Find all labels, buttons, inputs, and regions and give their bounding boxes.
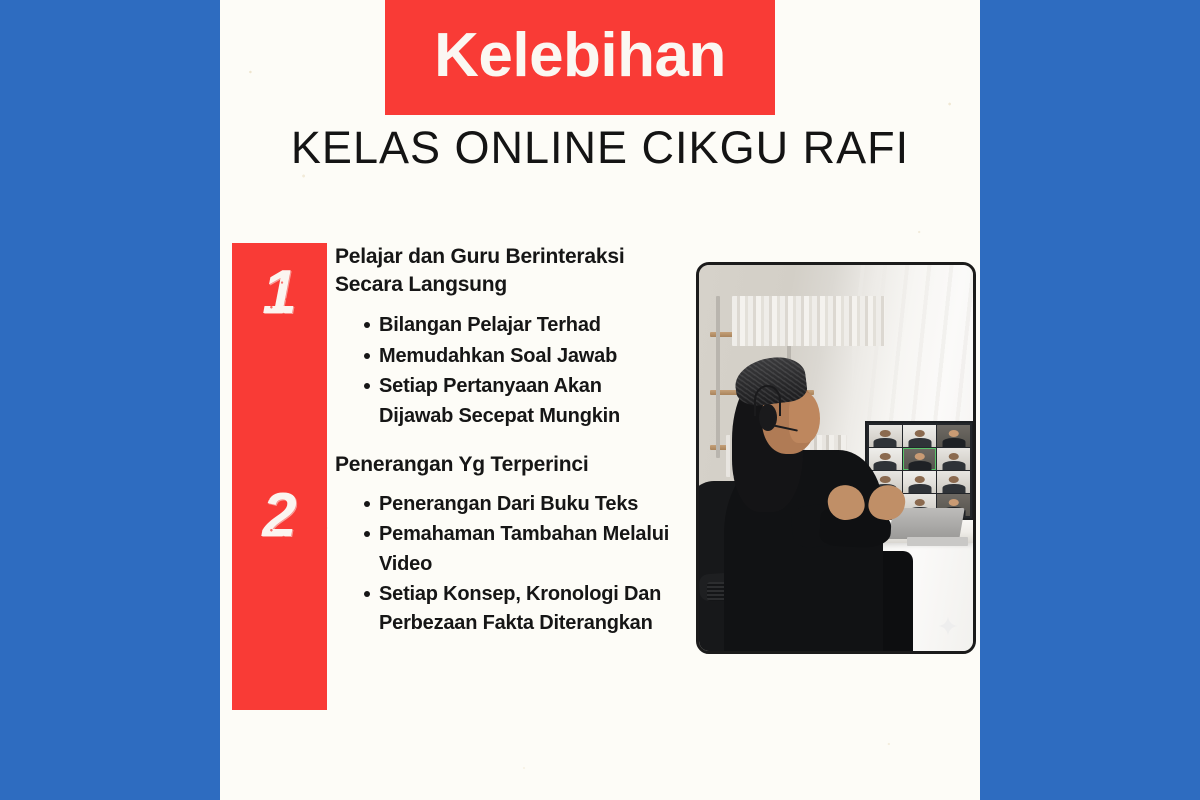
page-subtitle: KELAS ONLINE CIKGU RAFI [220, 122, 980, 174]
number-bar: 1 2 [232, 243, 327, 710]
poster-canvas: Kelebihan KELAS ONLINE CIKGU RAFI 1 2 Pe… [220, 0, 980, 800]
section-2-bullets: Penerangan Dari Buku Teks Pemahaman Tamb… [335, 490, 675, 639]
participant-tile [869, 425, 902, 446]
section-1: Pelajar dan Guru Berinteraksi Secara Lan… [335, 243, 675, 431]
section-number-2: 2 [232, 485, 327, 547]
list-item: Pemahaman Tambahan Melalui Video [366, 520, 675, 579]
participant-tile [937, 448, 970, 469]
participant-tile [869, 448, 902, 469]
photo-books-top [732, 296, 885, 346]
participant-tile [903, 471, 936, 492]
poster-root: Kelebihan KELAS ONLINE CIKGU RAFI 1 2 Pe… [0, 0, 1200, 800]
list-item: Penerangan Dari Buku Teks [366, 490, 675, 519]
participant-tile [937, 471, 970, 492]
list-item: Bilangan Pelajar Terhad [366, 311, 675, 340]
online-class-photo [699, 265, 973, 651]
section-number-1: 1 [232, 262, 327, 324]
section-1-bullets: Bilangan Pelajar Terhad Memudahkan Soal … [335, 311, 675, 431]
list-item: Setiap Pertanyaan Akan Dijawab Secepat M… [366, 372, 675, 431]
participant-tile [903, 425, 936, 446]
title-banner: Kelebihan [385, 0, 775, 115]
section-2-heading: Penerangan Yg Terperinci [335, 451, 675, 479]
list-item: Memudahkan Soal Jawab [366, 342, 675, 371]
photo-laptop-base [907, 537, 967, 545]
list-item: Setiap Konsep, Kronologi Dan Perbezaan F… [366, 580, 675, 639]
page-title: Kelebihan [434, 25, 726, 91]
participant-tile [903, 448, 936, 469]
photo-card [696, 262, 976, 654]
section-1-heading: Pelajar dan Guru Berinteraksi Secara Lan… [335, 243, 675, 298]
sparkle-icon [937, 615, 959, 637]
sections-list: Pelajar dan Guru Berinteraksi Secara Lan… [335, 243, 675, 657]
participant-tile [937, 425, 970, 446]
section-2: Penerangan Yg Terperinci Penerangan Dari… [335, 451, 675, 639]
